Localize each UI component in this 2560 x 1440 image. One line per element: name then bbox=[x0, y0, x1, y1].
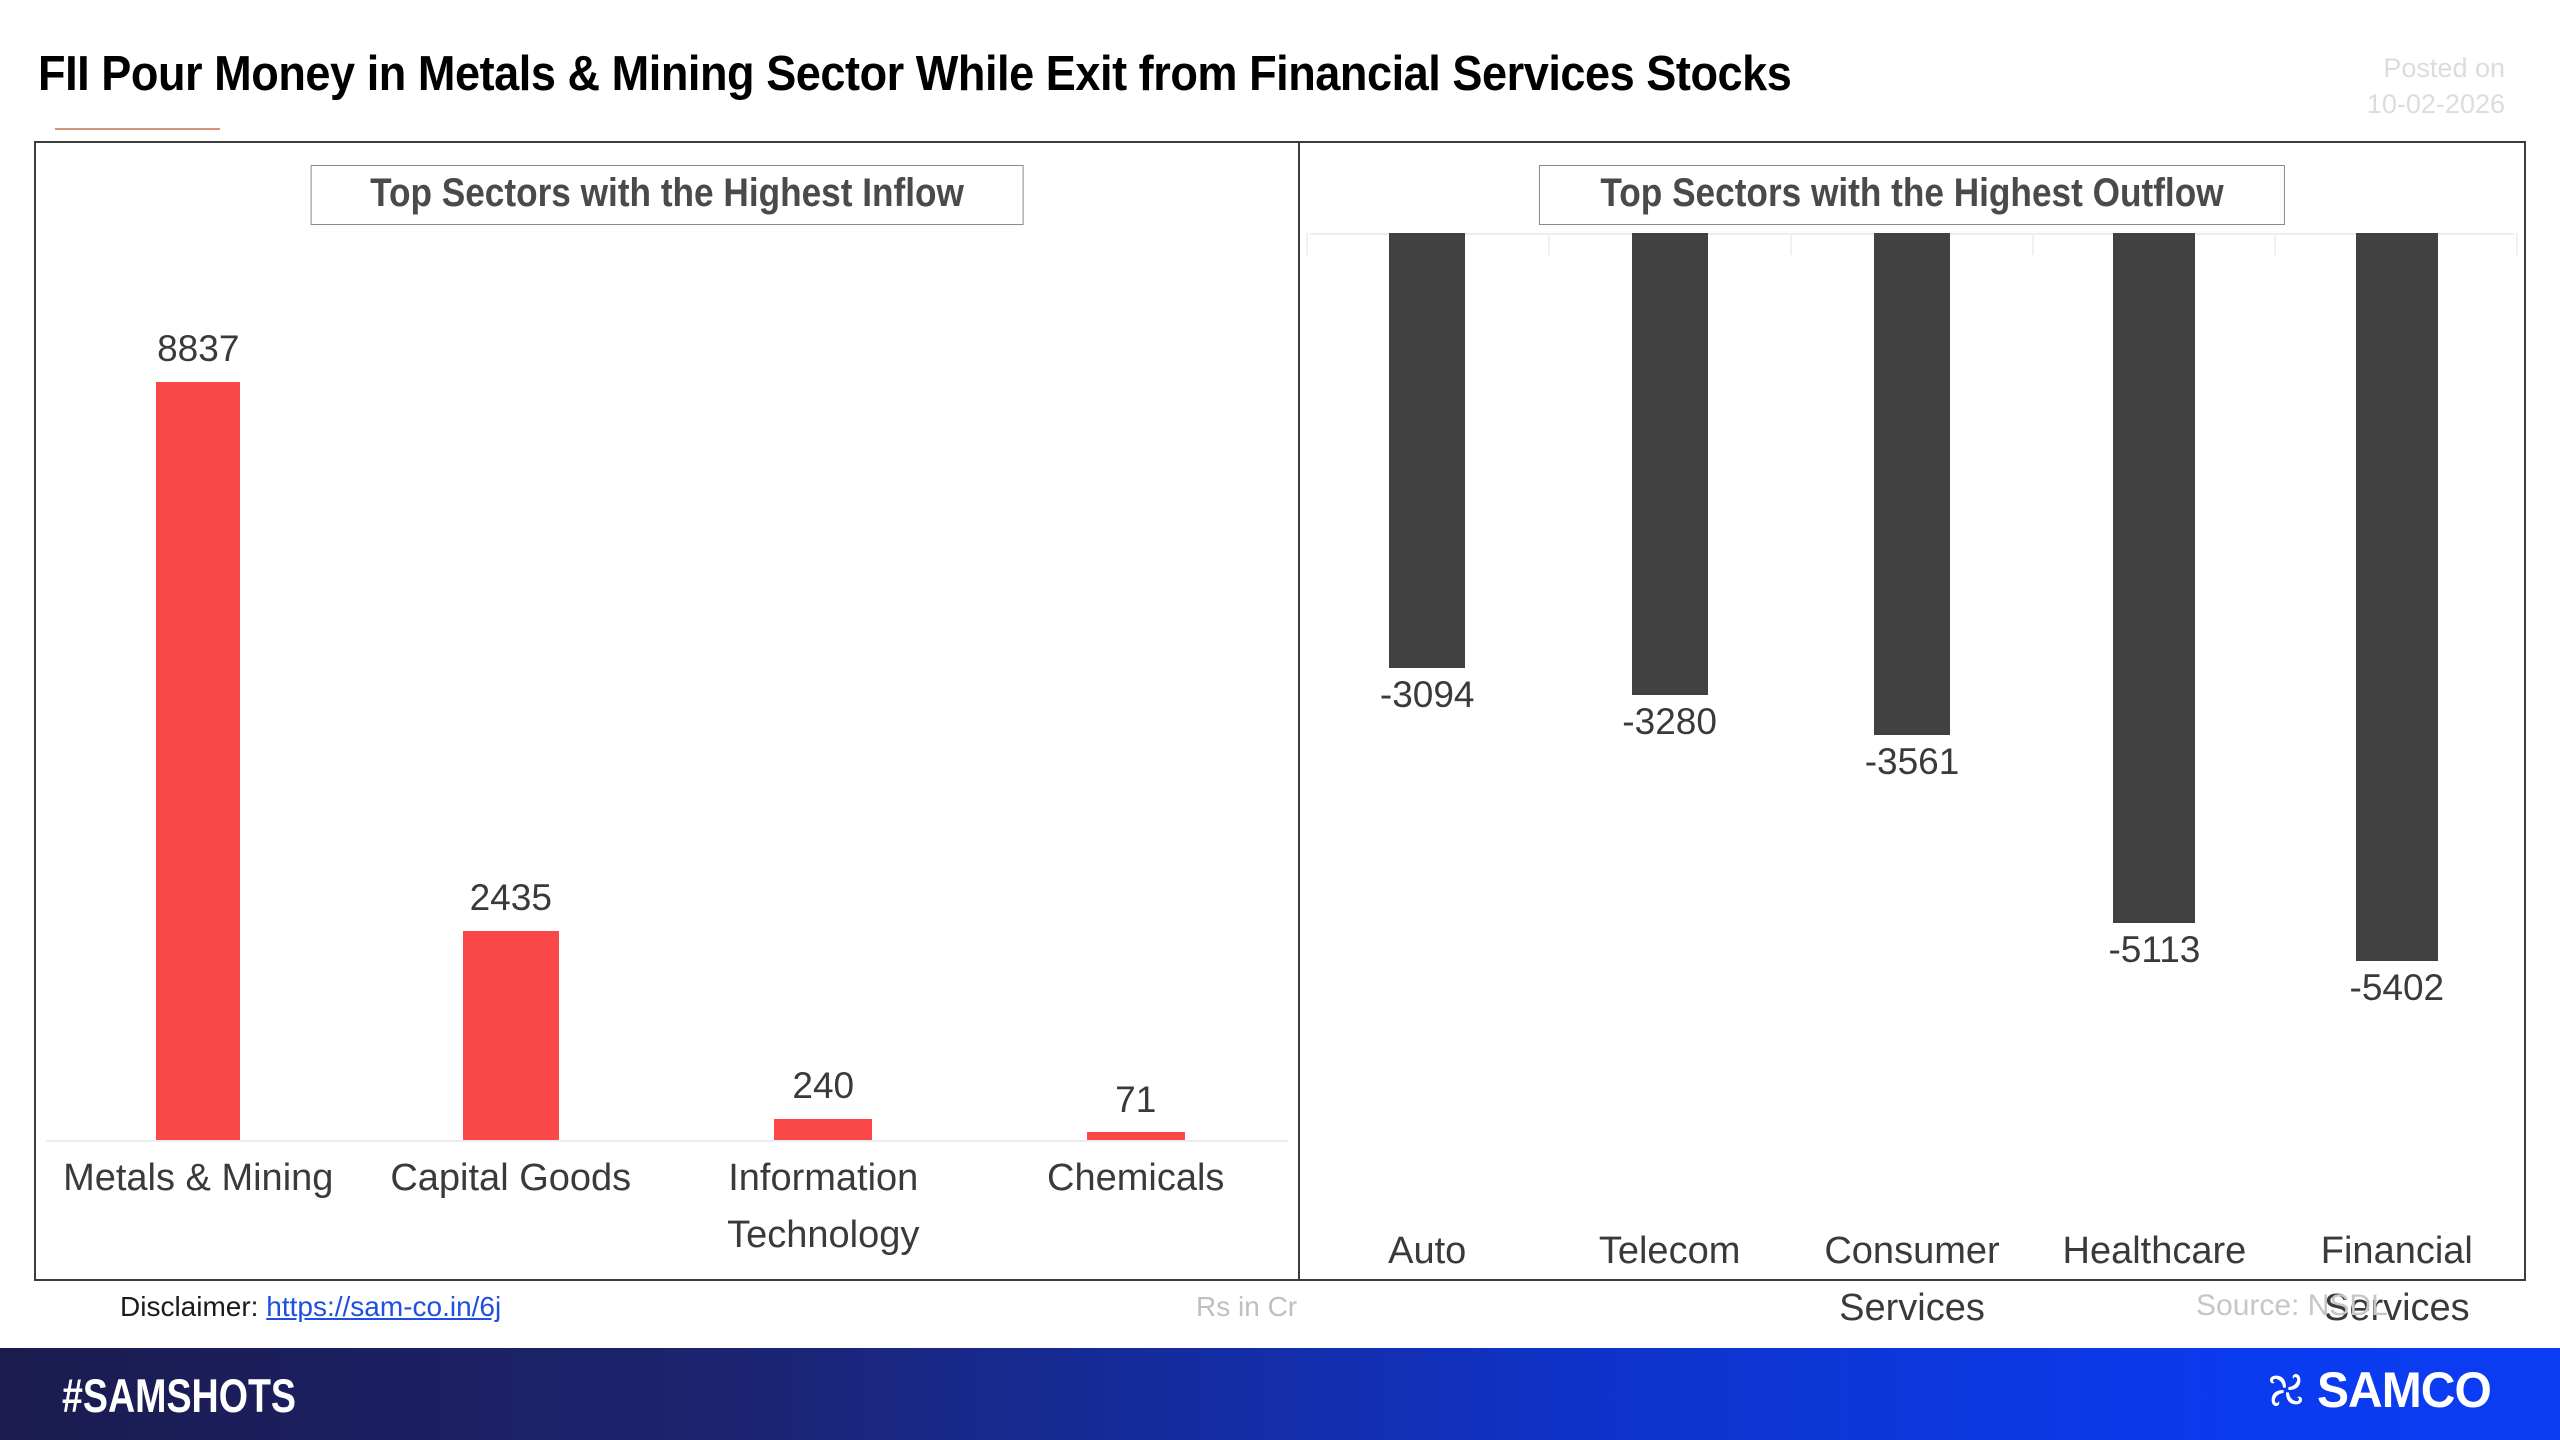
title-accent-underline bbox=[55, 128, 220, 130]
bar-group-financial-services: -5402 bbox=[2276, 233, 2518, 1213]
bar-value-label: 8837 bbox=[157, 328, 239, 370]
outflow-chart-title: Top Sectors with the Highest Outflow bbox=[1600, 173, 2223, 213]
disclaimer-block: Disclaimer: https://sam-co.in/6j bbox=[120, 1291, 501, 1323]
bar-group-consumer-services: -3561 bbox=[1791, 233, 2033, 1213]
outflow-chart-title-box: Top Sectors with the Highest Outflow bbox=[1539, 165, 2285, 225]
bar-group-telecom: -3280 bbox=[1548, 233, 1790, 1213]
bar-value-label: 240 bbox=[792, 1065, 854, 1107]
bar-financial-services[interactable] bbox=[2356, 233, 2438, 961]
bar-group-auto: -3094 bbox=[1306, 233, 1548, 1213]
inflow-baseline bbox=[46, 1140, 1288, 1142]
disclaimer-label: Disclaimer: bbox=[120, 1291, 258, 1322]
bar-telecom[interactable] bbox=[1632, 233, 1708, 695]
bar-value-label: 71 bbox=[1115, 1079, 1156, 1121]
bar-value-label: -5402 bbox=[2350, 967, 2445, 1009]
bar-information-technology[interactable] bbox=[774, 1119, 872, 1140]
bar-group-information-technology: 240 bbox=[667, 293, 980, 1140]
bar-chemicals[interactable] bbox=[1087, 1132, 1185, 1140]
source-note: Source: NSDL bbox=[2196, 1289, 2388, 1323]
bar-group-chemicals: 71 bbox=[980, 293, 1293, 1140]
bar-value-label: -5113 bbox=[2108, 929, 2200, 971]
bar-group-metals-mining: 8837 bbox=[42, 293, 355, 1140]
outflow-plot-area: -3094 -3280 -3561 -5113 -5402 bbox=[1306, 233, 2518, 1279]
bar-auto[interactable] bbox=[1389, 233, 1465, 668]
category-label-information-technology: Information Technology bbox=[667, 1150, 980, 1264]
posted-on-label: Posted on bbox=[2367, 50, 2505, 86]
posted-on-date: 10-02-2026 bbox=[2367, 86, 2505, 122]
inflow-chart-panel: Top Sectors with the Highest Inflow 8837… bbox=[34, 141, 1300, 1281]
page-title: FII Pour Money in Metals & Mining Sector… bbox=[38, 46, 1791, 102]
bar-value-label: -3094 bbox=[1380, 674, 1475, 716]
bar-group-healthcare: -5113 bbox=[2033, 233, 2275, 1213]
sub-footer: Disclaimer: https://sam-co.in/6j Rs in C… bbox=[0, 1285, 2560, 1345]
inflow-bars: 8837 2435 240 71 bbox=[42, 293, 1292, 1140]
bar-value-label: 2435 bbox=[470, 877, 552, 919]
samshots-hashtag: #SAMSHOTS bbox=[62, 1368, 296, 1423]
category-label-chemicals: Chemicals bbox=[980, 1150, 1293, 1264]
header: FII Pour Money in Metals & Mining Sector… bbox=[0, 0, 2560, 140]
bar-healthcare[interactable] bbox=[2113, 233, 2195, 923]
bar-value-label: -3561 bbox=[1865, 741, 1960, 783]
bar-capital-goods[interactable] bbox=[463, 931, 559, 1140]
bar-group-capital-goods: 2435 bbox=[355, 293, 668, 1140]
outflow-bars: -3094 -3280 -3561 -5113 -5402 bbox=[1306, 233, 2518, 1213]
bar-value-label: -3280 bbox=[1622, 701, 1717, 743]
bar-metals-mining[interactable] bbox=[156, 382, 240, 1140]
disclaimer-link[interactable]: https://sam-co.in/6j bbox=[266, 1291, 501, 1322]
inflow-chart-title-box: Top Sectors with the Highest Inflow bbox=[311, 165, 1024, 225]
charts-frame: Top Sectors with the Highest Inflow 8837… bbox=[34, 141, 2526, 1281]
category-label-capital-goods: Capital Goods bbox=[355, 1150, 668, 1264]
category-label-metals-mining: Metals & Mining bbox=[42, 1150, 355, 1264]
bottom-brand-bar: #SAMSHOTS SAMCO bbox=[0, 1348, 2560, 1440]
inflow-category-labels: Metals & Mining Capital Goods Informatio… bbox=[42, 1150, 1292, 1264]
samco-logo: SAMCO bbox=[2263, 1365, 2498, 1415]
units-note: Rs in Cr bbox=[1196, 1291, 1297, 1323]
inflow-chart-title: Top Sectors with the Highest Inflow bbox=[370, 173, 964, 213]
inflow-plot-area: 8837 2435 240 71 Metals & Mining bbox=[42, 293, 1292, 1279]
bar-consumer-services[interactable] bbox=[1874, 233, 1950, 735]
outflow-chart-panel: Top Sectors with the Highest Outflow -30… bbox=[1300, 141, 2526, 1281]
samco-pinwheel-icon bbox=[2263, 1367, 2309, 1413]
posted-on-block: Posted on 10-02-2026 bbox=[2367, 50, 2505, 122]
samco-wordmark: SAMCO bbox=[2317, 1365, 2491, 1415]
